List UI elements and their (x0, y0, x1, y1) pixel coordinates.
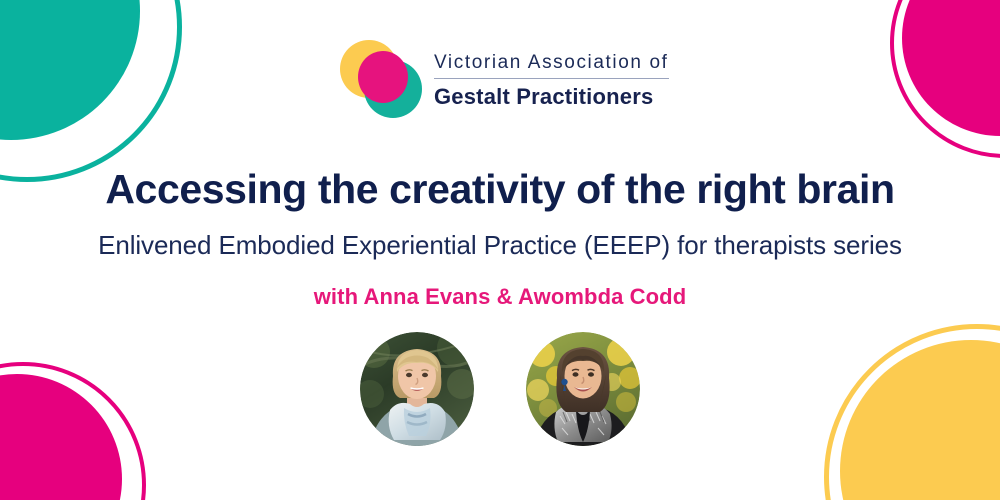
logo-line-2: Gestalt Practitioners (434, 79, 669, 109)
decor-top-left-circle-teal (0, 0, 140, 140)
three-overlapping-circles-logo-icon (338, 38, 424, 122)
logo-line-1: Victorian Association of (434, 52, 669, 79)
page-subtitle: Enlivened Embodied Experiential Practice… (0, 230, 1000, 261)
presenter-portraits (0, 332, 1000, 446)
decor-top-right-ring-magenta (890, 0, 1000, 158)
logo-wordmark: Victorian Association of Gestalt Practit… (434, 50, 669, 109)
avatar-awombda-codd-image (526, 332, 640, 446)
avatar-awombda-codd (526, 332, 640, 446)
logo-circle-pink-icon (358, 51, 408, 103)
avatar-anna-evans-image (360, 332, 474, 446)
decor-top-right-circle-magenta (902, 0, 1000, 136)
event-banner: Victorian Association of Gestalt Practit… (0, 0, 1000, 500)
presenters-line: with Anna Evans & Awombda Codd (0, 284, 1000, 310)
avatar-anna-evans (360, 332, 474, 446)
page-title: Accessing the creativity of the right br… (0, 166, 1000, 213)
organisation-logo: Victorian Association of Gestalt Practit… (338, 38, 669, 122)
decor-top-left-ring-teal (0, 0, 182, 182)
